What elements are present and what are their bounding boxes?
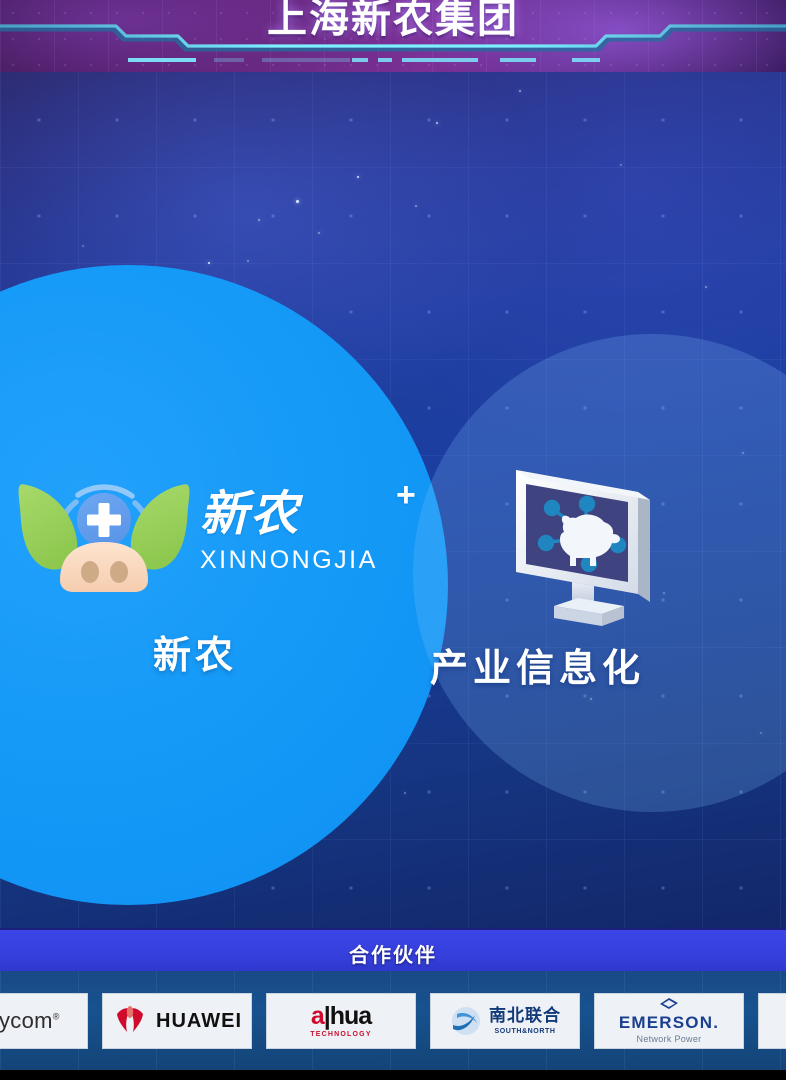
page-header: 上海新农集团 xyxy=(0,0,786,72)
partners-strip: Polycom® HUAWEI a|hua TECHNOLOGY xyxy=(0,971,786,1070)
partner-label-huawei: HUAWEI xyxy=(156,1010,242,1033)
left-panel-caption: 新农 xyxy=(0,624,390,679)
partner-logo-huawei[interactable]: HUAWEI xyxy=(102,993,252,1049)
app-screen: 上海新农集团 xyxy=(0,0,786,1080)
partners-band: 合作伙伴 xyxy=(0,928,786,973)
partner-logo-list: Polycom® HUAWEI a|hua TECHNOLOGY xyxy=(0,993,786,1049)
partner-label-polycom: Polycom xyxy=(0,1008,53,1033)
pig-plus-leaf-logo xyxy=(14,462,194,602)
partner-logo-south-and-north[interactable]: 南北联合 SOUTH&NORTH xyxy=(430,993,580,1049)
partner-sublabel-dahua: TECHNOLOGY xyxy=(310,1031,371,1038)
partner-logo-emerson[interactable]: EMERSON. Network Power xyxy=(594,993,744,1049)
monitor-pig-network-icon xyxy=(498,454,674,634)
partners-band-title: 合作伙伴 xyxy=(0,939,786,968)
partner-logo-polycom[interactable]: Polycom® xyxy=(0,993,88,1049)
partner-label-south-and-north: 南北联合 xyxy=(489,1008,561,1025)
brand-name-en: XINNONGJIA xyxy=(200,546,378,575)
page-title: 上海新农集团 xyxy=(0,0,786,44)
huawei-fan-icon xyxy=(112,1005,148,1037)
bottom-letterbox xyxy=(0,1070,786,1080)
right-panel-caption: 产业信息化 xyxy=(430,637,786,692)
emerson-diamond-icon xyxy=(660,998,678,1012)
wave-globe-icon xyxy=(449,1006,483,1036)
partner-label-emerson: EMERSON xyxy=(619,1013,713,1032)
brand-name-cn-wrap: 新农+ xyxy=(200,490,378,538)
partner-sublabel-emerson: Network Power xyxy=(637,1035,702,1044)
partner-logo-globe[interactable] xyxy=(758,993,786,1049)
left-panel-content: 新农+ XINNONGJIA xyxy=(0,462,400,602)
main-stage: 新农+ XINNONGJIA 新农 xyxy=(0,72,786,928)
brand-lockup: 新农+ XINNONGJIA xyxy=(200,490,378,575)
brand-name-cn: 新农 xyxy=(200,486,300,542)
partner-logo-dahua[interactable]: a|hua TECHNOLOGY xyxy=(266,993,416,1049)
registered-mark-icon: ® xyxy=(53,1012,60,1022)
brand-plus-sign: + xyxy=(396,478,418,512)
partner-sublabel-south-and-north: SOUTH&NORTH xyxy=(494,1028,555,1035)
